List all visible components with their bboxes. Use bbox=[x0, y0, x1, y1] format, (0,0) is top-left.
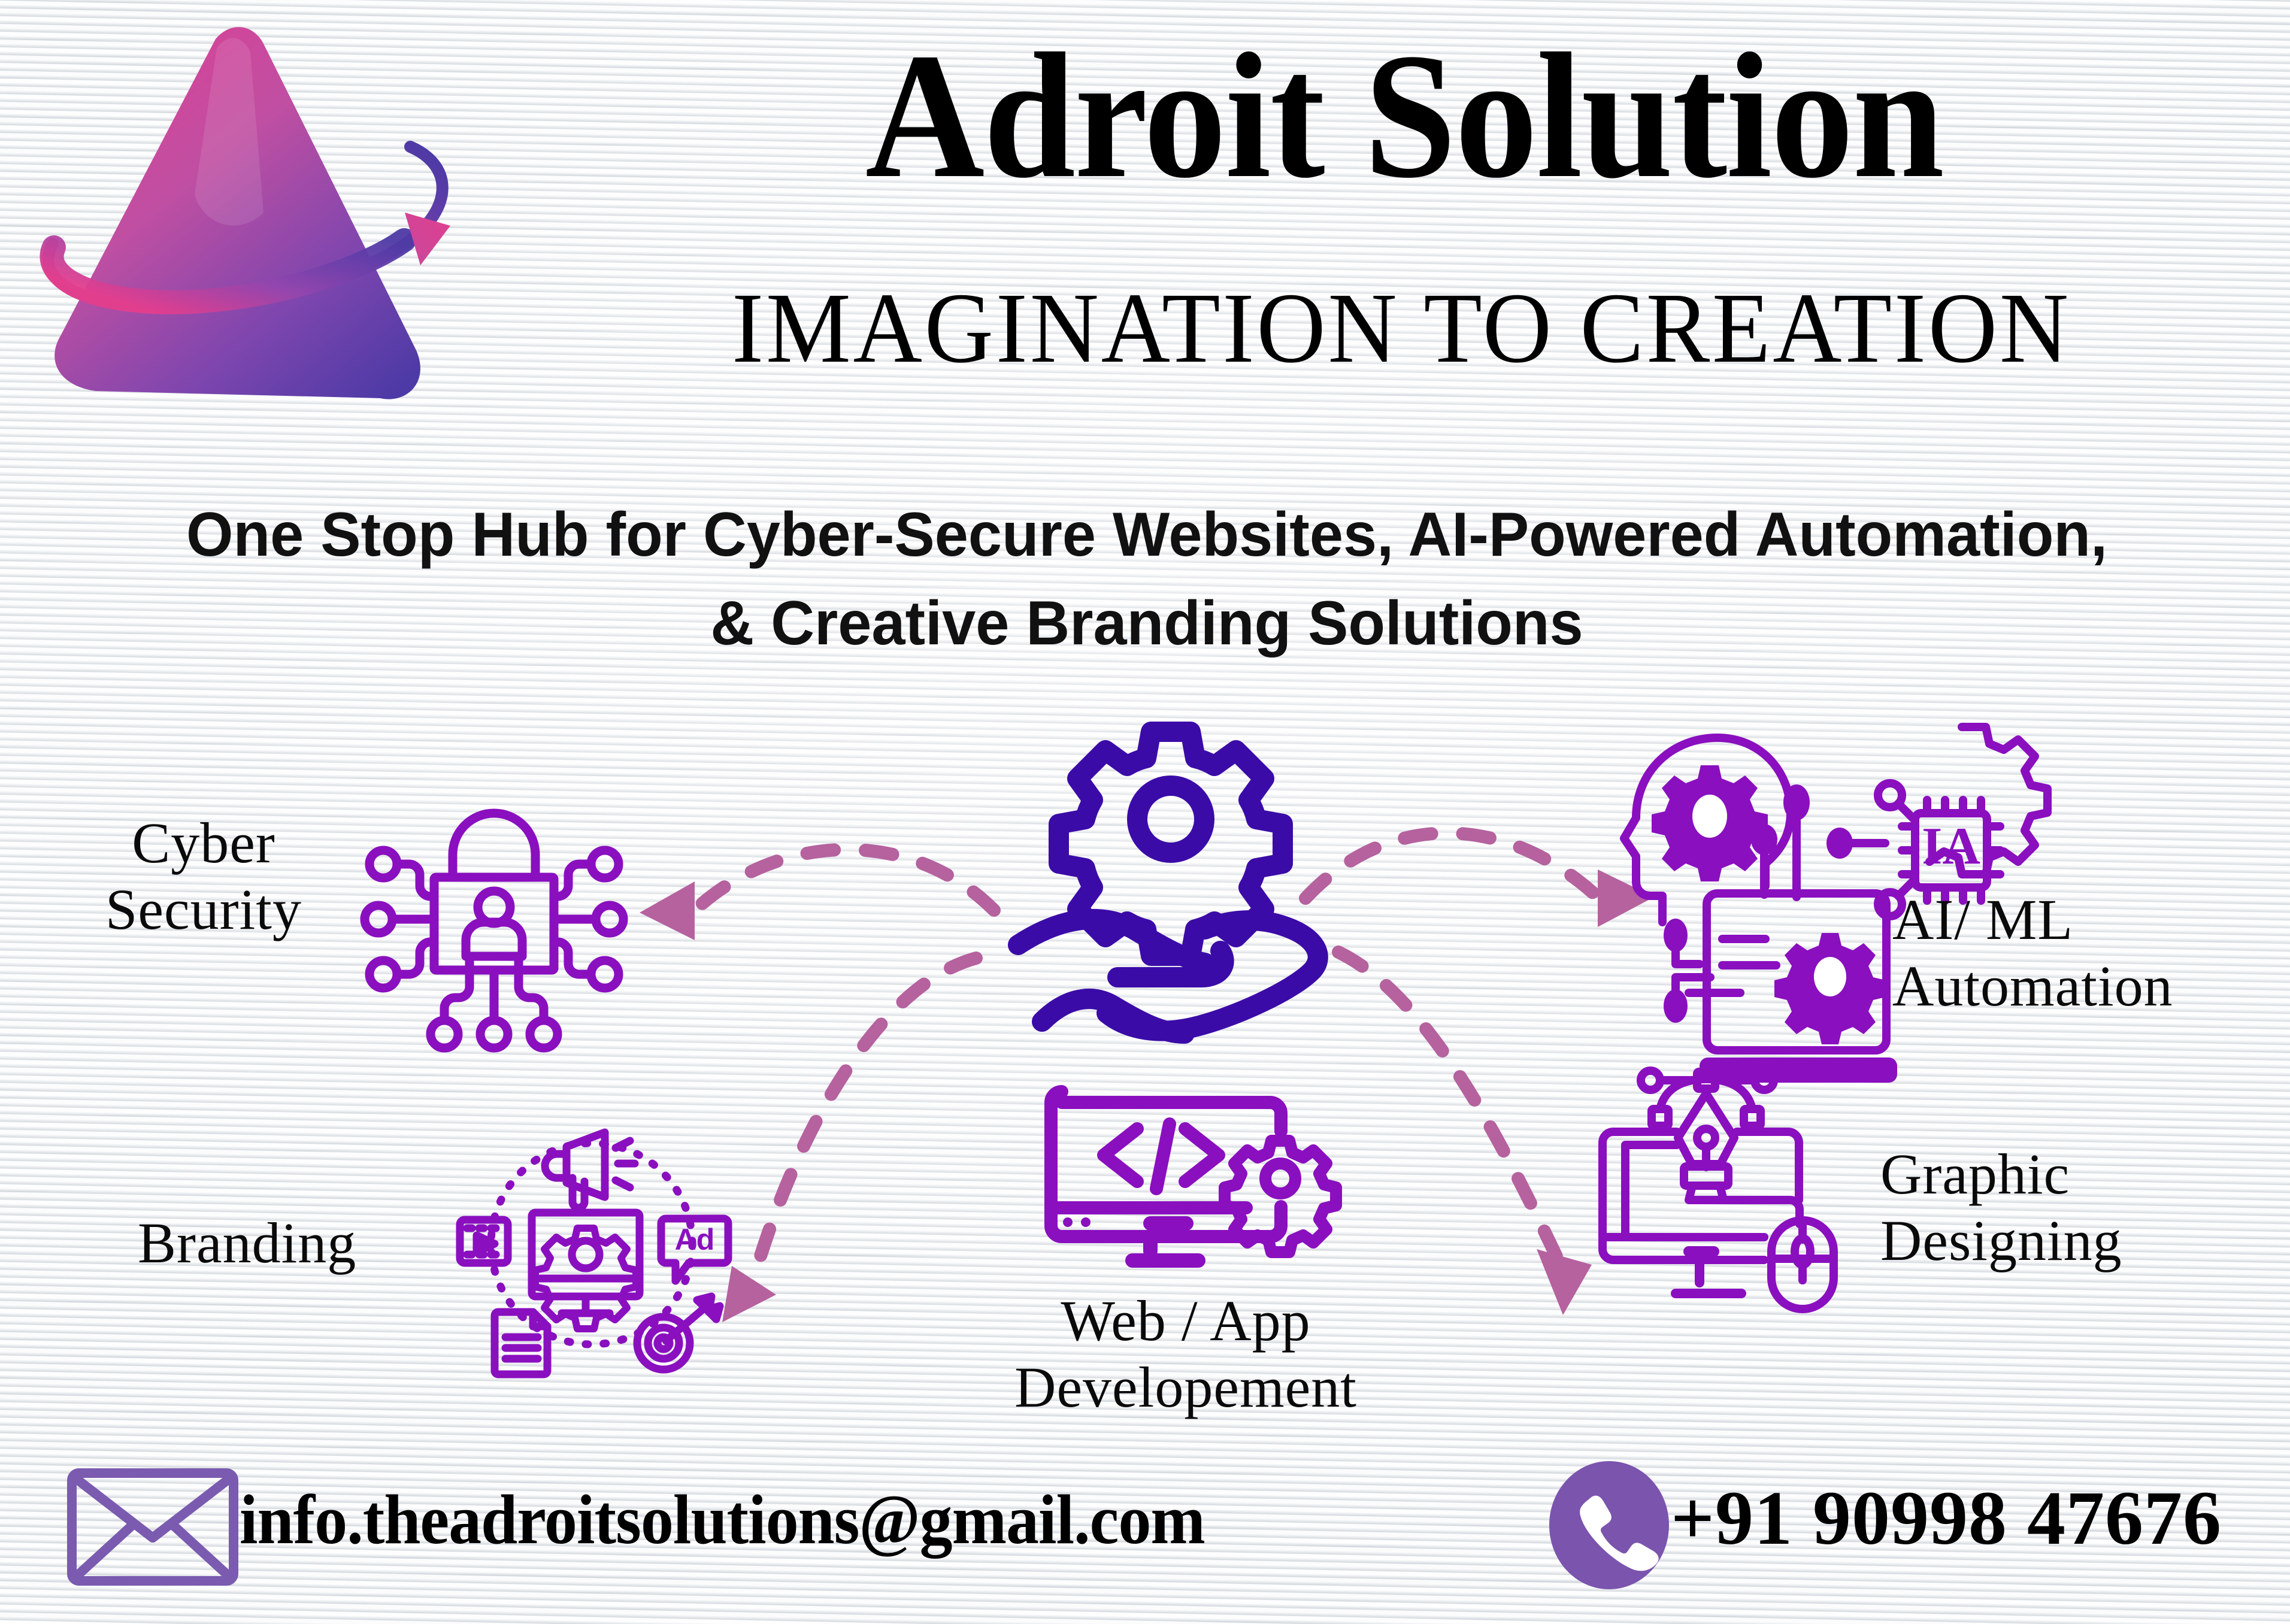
label-line-2: Automation bbox=[1892, 953, 2290, 1019]
label-line-1: Web / App bbox=[922, 1287, 1449, 1354]
poster-canvas: Adroit Solution IMAGINATION TO CREATION … bbox=[0, 0, 2290, 1624]
brand-tagline: IMAGINATION TO CREATION bbox=[559, 275, 2243, 381]
padlock-network-icon bbox=[353, 799, 635, 1057]
label-line-2: Designing bbox=[1880, 1207, 2290, 1274]
label-line-1: AI/ ML bbox=[1892, 886, 2290, 953]
label-line-1: Graphic bbox=[1880, 1141, 2290, 1207]
arrow-path-graphic bbox=[1338, 952, 1557, 1258]
ai-chip-label: IA bbox=[1922, 817, 1980, 875]
arrow-path-cyber bbox=[695, 850, 994, 910]
pen-tool-monitor-mouse-icon bbox=[1593, 1066, 1886, 1311]
arrow-path-aiml bbox=[1305, 833, 1599, 898]
service-label-ai-ml-automation: AI/ ML Automation bbox=[1892, 886, 2290, 1020]
label-line-2: Security bbox=[36, 876, 371, 943]
sub-headline-line-1: One Stop Hub for Cyber-Secure Websites, … bbox=[139, 491, 2155, 580]
label-line-1: Branding bbox=[138, 1210, 473, 1276]
service-label-cyber-security: Cyber Security bbox=[36, 810, 371, 943]
sub-headline-line-2: & Creative Branding Solutions bbox=[139, 580, 2155, 668]
email-address[interactable]: info.theadroitsolutions@gmail.com bbox=[240, 1479, 1298, 1561]
sub-headline: One Stop Hub for Cyber-Secure Websites, … bbox=[139, 491, 2155, 668]
page-title: Adroit Solution bbox=[597, 24, 2212, 207]
arrow-path-branding bbox=[755, 958, 976, 1275]
adroit-solution-logo bbox=[24, 15, 479, 410]
service-label-web-app-development: Web / App Developement bbox=[922, 1287, 1449, 1421]
gear-in-hand-icon bbox=[994, 695, 1347, 1048]
service-label-branding: Branding bbox=[138, 1210, 473, 1276]
phone-number[interactable]: +91 90998 47676 bbox=[1671, 1474, 2290, 1562]
label-line-2: Developement bbox=[922, 1354, 1449, 1420]
arrow-head-graphic bbox=[1537, 1249, 1592, 1315]
branding-megaphone-monitor-icon: Ad bbox=[455, 1099, 737, 1374]
code-monitor-gear-icon bbox=[1033, 1081, 1338, 1287]
label-line-1: Cyber bbox=[36, 810, 371, 876]
arrow-head-cyber bbox=[640, 881, 695, 940]
ad-badge-label: Ad bbox=[675, 1223, 715, 1256]
envelope-icon bbox=[66, 1467, 240, 1587]
phone-icon bbox=[1545, 1461, 1674, 1590]
service-label-graphic-designing: Graphic Designing bbox=[1880, 1141, 2290, 1274]
